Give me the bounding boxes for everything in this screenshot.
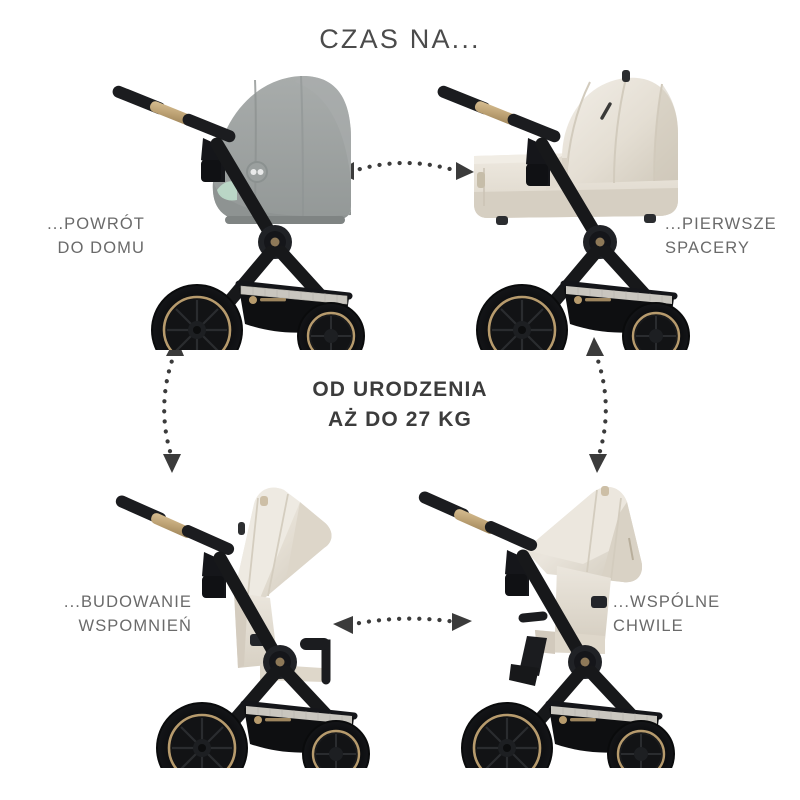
- product-stroller-with-infant-car-seat[interactable]: [105, 60, 375, 350]
- center-claim-line-1: OD URODZENIA: [0, 375, 800, 405]
- footrest: [509, 636, 547, 686]
- handle-bar: [111, 84, 237, 144]
- carrycot-hood: [560, 70, 678, 186]
- product-stroller-seat-forward-facing[interactable]: [415, 468, 685, 768]
- stroller-with-carrycot-icon: [430, 60, 700, 350]
- handle-bar: [114, 494, 236, 557]
- infographic-canvas: CZAS NA... OD URODZENIA AŻ DO 27 KG ...P…: [0, 0, 800, 800]
- stroller-with-infant-car-seat-icon: [105, 60, 375, 350]
- product-stroller-with-carrycot[interactable]: [430, 60, 700, 350]
- center-claim-line-2: AŻ DO 27 KG: [0, 405, 800, 435]
- seat-hood: [234, 488, 332, 602]
- stroller-seat-forward-facing-icon: [415, 468, 685, 768]
- double-headed-dotted-arrow-vertical-icon: [575, 330, 620, 480]
- handle-bar: [436, 84, 562, 144]
- double-headed-dotted-arrow-vertical-icon: [150, 330, 195, 480]
- product-stroller-seat-parent-facing[interactable]: [110, 468, 380, 768]
- page-title: CZAS NA...: [0, 24, 800, 55]
- handle-bar: [417, 490, 539, 553]
- seat-hood: [525, 486, 642, 582]
- infant-car-seat-shell: [213, 76, 351, 224]
- stroller-seat-parent-facing-icon: [110, 468, 380, 768]
- center-claim: OD URODZENIA AŻ DO 27 KG: [0, 375, 800, 436]
